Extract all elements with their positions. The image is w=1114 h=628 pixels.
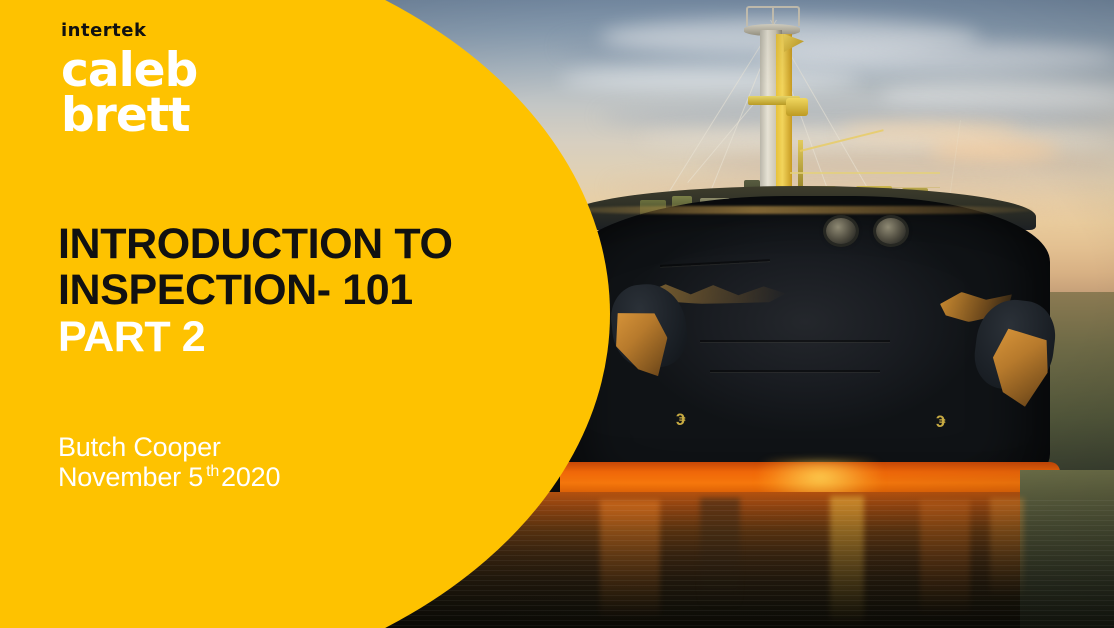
deck-edge-highlight	[570, 206, 1032, 214]
page-title: INTRODUCTION TO INSPECTION- 101 PART 2	[58, 222, 488, 361]
title-line-2: INSPECTION- 101	[58, 268, 488, 314]
hull-seam	[700, 340, 890, 342]
porthole-icon	[876, 218, 906, 244]
draft-marking: €	[676, 410, 685, 430]
mast-railing	[746, 6, 800, 26]
mast-lamp	[786, 98, 808, 116]
presenter-name: Butch Cooper	[58, 432, 458, 462]
porthole-icon	[826, 218, 856, 244]
title-part-label: PART 2	[58, 315, 488, 361]
title-line-1: INTRODUCTION TO	[58, 222, 488, 268]
slide-content: intertek caleb brett INTRODUCTION TO INS…	[0, 0, 520, 628]
logo-brett-wordmark: brett	[61, 94, 321, 138]
logo: intertek caleb brett	[61, 22, 321, 137]
hull-seam	[710, 370, 880, 372]
date-ordinal-suffix: th	[203, 463, 221, 480]
logo-caleb-wordmark: caleb	[61, 49, 321, 93]
logo-intertek-wordmark: intertek	[61, 22, 321, 40]
byline: Butch Cooper November 5th2020	[58, 432, 458, 492]
presentation-date: November 5th2020	[58, 462, 458, 492]
date-month-day: November 5	[58, 462, 203, 492]
title-slide: € € intertek caleb brett INTRODUCTION TO…	[0, 0, 1114, 628]
draft-marking: €	[936, 412, 945, 432]
date-year: 2020	[221, 462, 280, 492]
